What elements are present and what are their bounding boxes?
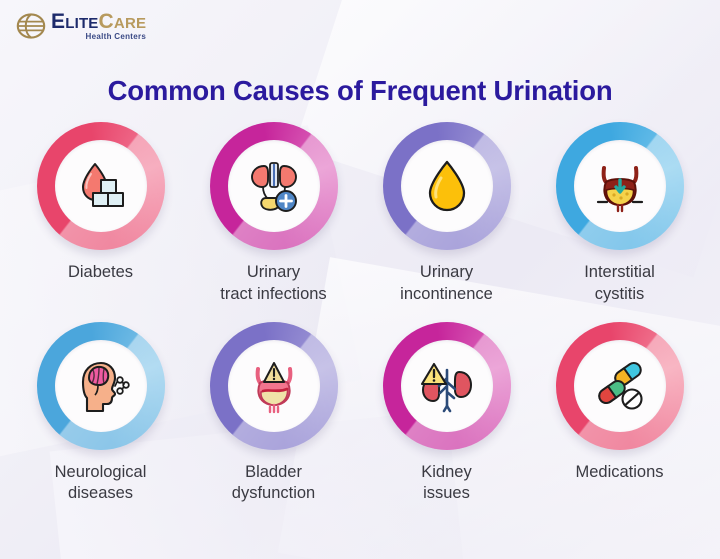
cause-label-line2: incontinence — [400, 284, 493, 306]
brand-logo: ELITECARE Health Centers — [16, 11, 146, 41]
blood-drop-sugar-cubes-icon — [71, 156, 131, 216]
cause-item-diabetes: Diabetes — [14, 122, 187, 306]
cause-label-line1: Urinary — [400, 262, 493, 284]
cause-item-bladder-dysfunction: Bladder dysfunction — [187, 322, 360, 506]
cause-label: Medications — [575, 462, 663, 484]
inflamed-bladder-icon — [590, 156, 650, 216]
cause-label: Neurological diseases — [55, 462, 147, 506]
brand-name-are: ARE — [114, 15, 146, 32]
page-title: Common Causes of Frequent Urination — [0, 75, 720, 107]
icon-badge-inner — [228, 140, 320, 232]
cause-label-line1: Diabetes — [68, 262, 133, 284]
icon-badge-inner — [401, 140, 493, 232]
icon-badge — [37, 322, 165, 450]
icon-badge-inner — [55, 140, 147, 232]
brand-tagline: Health Centers — [51, 33, 146, 41]
cause-label-line1: Urinary — [220, 262, 326, 284]
cause-label-line2: cystitis — [584, 284, 655, 306]
icon-badge — [210, 122, 338, 250]
cause-label-line2: issues — [421, 483, 471, 505]
brand-name-c: C — [99, 10, 114, 33]
icon-badge — [383, 122, 511, 250]
cause-item-kidney-issues: Kidney issues — [360, 322, 533, 506]
brand-wordmark: ELITECARE — [51, 11, 146, 32]
cause-item-urinary-tract-infections: Urinary tract infections — [187, 122, 360, 306]
icon-badge — [383, 322, 511, 450]
cause-item-interstitial-cystitis: Interstitial cystitis — [533, 122, 706, 306]
cause-label-line1: Kidney — [421, 462, 471, 484]
urine-drop-icon — [417, 156, 477, 216]
brand-name-lite: LITE — [65, 15, 98, 32]
icon-badge — [556, 122, 684, 250]
cause-label-line1: Bladder — [232, 462, 315, 484]
cause-label-line2: tract infections — [220, 284, 326, 306]
kidneys-warning-icon — [417, 356, 477, 416]
icon-badge-inner — [55, 340, 147, 432]
cause-item-urinary-incontinence: Urinary incontinence — [360, 122, 533, 306]
cause-label-line2: diseases — [55, 483, 147, 505]
causes-grid: Diabetes — [14, 122, 706, 505]
icon-badge-inner — [401, 340, 493, 432]
infographic-poster: ELITECARE Health Centers Common Causes o… — [0, 0, 720, 559]
pills-capsules-icon — [590, 356, 650, 416]
brand-name-e: E — [51, 10, 65, 33]
bladder-warning-icon — [244, 356, 304, 416]
cause-item-neurological-diseases: Neurological diseases — [14, 322, 187, 506]
cause-label: Diabetes — [68, 262, 133, 284]
cause-label-line1: Interstitial — [584, 262, 655, 284]
cause-label: Interstitial cystitis — [584, 262, 655, 306]
cause-item-medications: Medications — [533, 322, 706, 506]
cause-label-line1: Neurological — [55, 462, 147, 484]
cause-label-line2: dysfunction — [232, 483, 315, 505]
cause-label: Bladder dysfunction — [232, 462, 315, 506]
cause-label: Urinary incontinence — [400, 262, 493, 306]
icon-badge — [556, 322, 684, 450]
icon-badge-inner — [228, 340, 320, 432]
cause-label-line1: Medications — [575, 462, 663, 484]
head-brain-neuron-icon — [71, 356, 131, 416]
cause-label: Kidney issues — [421, 462, 471, 506]
icon-badge-inner — [574, 340, 666, 432]
cause-label: Urinary tract infections — [220, 262, 326, 306]
icon-badge — [37, 122, 165, 250]
icon-badge-inner — [574, 140, 666, 232]
icon-badge — [210, 322, 338, 450]
kidneys-bladder-medical-cross-icon — [244, 156, 304, 216]
elitecare-globe-icon — [16, 11, 46, 41]
